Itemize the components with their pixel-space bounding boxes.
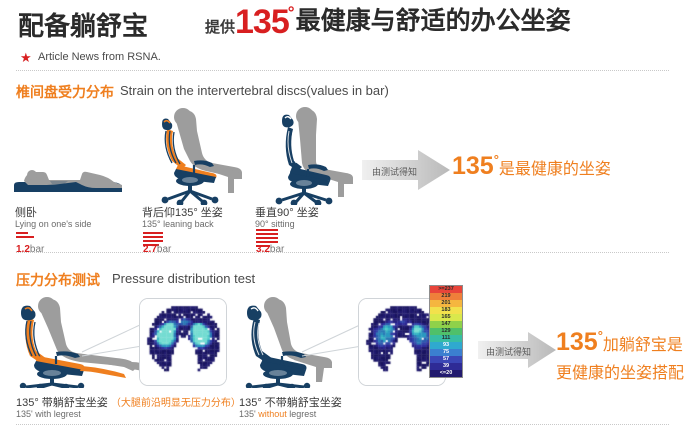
legend-row: 165 — [430, 314, 462, 321]
pressure-map-with-legrest — [139, 298, 227, 386]
legend-row: 93 — [430, 342, 462, 349]
figure4-caption-en-post: legrest — [51, 409, 81, 419]
legend-row: 219 — [430, 293, 462, 300]
section1-conclusion-text: 是最健康的坐姿 — [499, 161, 611, 178]
figure3-value-unit: bar — [270, 244, 284, 255]
legend-row: 147 — [430, 321, 462, 328]
figure4-caption-cn: 135° 带躺舒宝坐姿 （大腿前沿明显无压力分布） — [16, 394, 241, 410]
figure1-value-number: 1.2 — [16, 244, 30, 255]
figure5-caption-en-pre: 135' — [239, 409, 258, 419]
section1-title-en: Strain on the intervertebral discs(value… — [120, 83, 389, 98]
pressure-map-canvas-1 — [140, 299, 226, 385]
section2-conclusion-text1: 加躺舒宝是 — [603, 337, 683, 354]
figure2-value: 2.7bar — [143, 244, 171, 255]
legend-row: <=20 — [430, 370, 462, 377]
figure3-caption-en: 90° sitting — [255, 219, 295, 229]
legend-row: 39 — [430, 363, 462, 370]
figure5-caption-en-post: legrest — [287, 409, 317, 419]
legend-row: 129 — [430, 328, 462, 335]
header-title-cn: 配备躺舒宝 — [18, 6, 148, 43]
section2-conclusion-text2: 更健康的坐姿搭配 — [556, 365, 684, 382]
figure-leaning-back-135: 背后仰135° 坐姿 135° leaning back 2.7bar — [150, 105, 260, 205]
section2-conclusion-number: 135 — [556, 328, 598, 356]
figure2-value-unit: bar — [157, 244, 171, 255]
figure2-caption-cn: 背后仰135° 坐姿 — [142, 204, 223, 220]
section2-title-cn: 压力分布测试 — [16, 270, 100, 290]
legend-row: 57 — [430, 356, 462, 363]
chair-135-icon — [150, 105, 260, 205]
header-degree-symbol: ° — [288, 3, 295, 22]
figure5-caption-en-em: without — [258, 409, 287, 419]
figure4-caption-cn-main: 135° 带躺舒宝坐姿 — [16, 397, 108, 409]
figure5-caption-cn: 135° 不带躺舒宝坐姿 — [239, 394, 342, 410]
figure4-caption-en-pre: 135' — [16, 409, 35, 419]
header: 配备躺舒宝 提供135°最健康与舒适的办公坐姿 ★ Article News f… — [0, 0, 685, 72]
header-headline: 提供135°最健康与舒适的办公坐姿 — [205, 0, 571, 39]
legend-row: 201 — [430, 300, 462, 307]
figure1-value: 1.2bar — [16, 244, 44, 255]
section1-title-cn: 椎间盘受力分布 — [16, 82, 114, 102]
section1-conclusion: 135°是最健康的坐姿 — [452, 152, 611, 181]
section2-title-en: Pressure distribution test — [112, 271, 255, 286]
section1-arrow-label: 由测试得知 — [372, 165, 417, 178]
section1-conclusion-number: 135 — [452, 152, 494, 180]
header-prefix: 提供 — [205, 19, 235, 36]
chair-90-icon — [258, 105, 368, 205]
figure5-caption-en: 135' without legrest — [239, 409, 316, 419]
pressure-scale-legend: >=23721920118316514712911193755739<=20 — [429, 285, 463, 378]
figure1-caption-en: Lying on one's side — [15, 219, 91, 229]
figure4-caption-en-em: with — [35, 409, 51, 419]
header-degree-number: 135 — [235, 3, 289, 41]
section2-conclusion: 135°加躺舒宝是 更健康的坐姿搭配 — [556, 328, 684, 383]
legend-row: >=237 — [430, 286, 462, 293]
header-divider — [16, 70, 669, 71]
footer-divider — [16, 424, 669, 425]
figure1-caption-cn: 侧卧 — [15, 204, 37, 220]
figure-sitting-90: 垂直90° 坐姿 90° sitting 3.2bar — [258, 105, 368, 205]
section1-conclusion-degree: ° — [494, 152, 499, 167]
infographic-page: 配备躺舒宝 提供135°最健康与舒适的办公坐姿 ★ Article News f… — [0, 0, 685, 430]
figure4-caption-en: 135' with legrest — [16, 409, 81, 419]
section2-arrow-label: 由测试得知 — [486, 345, 531, 358]
legend-row: 183 — [430, 307, 462, 314]
figure2-caption-en: 135° leaning back — [142, 219, 214, 229]
figure3-value: 3.2bar — [256, 244, 284, 255]
figure1-bar-stack — [16, 232, 34, 240]
figure3-caption-cn: 垂直90° 坐姿 — [255, 204, 319, 220]
section2-conclusion-degree: ° — [598, 328, 603, 343]
figure-lying-on-side: 侧卧 Lying on one's side 1.2bar — [10, 148, 125, 203]
section2-conclusion-line2-wrap: 更健康的坐姿搭配 — [556, 359, 684, 383]
figure5-caption-cn-main: 135° 不带躺舒宝坐姿 — [239, 397, 342, 409]
figure1-value-unit: bar — [30, 244, 44, 255]
legend-row: 75 — [430, 349, 462, 356]
section1-divider — [16, 252, 669, 253]
section2-conclusion-line1: 135°加躺舒宝是 — [556, 328, 684, 357]
figure2-value-number: 2.7 — [143, 244, 157, 255]
star-icon: ★ — [20, 51, 32, 64]
header-tail-cn: 最健康与舒适的办公坐姿 — [296, 7, 571, 35]
header-subcaption: Article News from RSNA. — [38, 51, 161, 63]
lying-figure-icon — [10, 148, 125, 203]
legend-row: 111 — [430, 335, 462, 342]
figure4-caption-note: （大腿前沿明显无压力分布） — [111, 398, 241, 409]
figure3-value-number: 3.2 — [256, 244, 270, 255]
